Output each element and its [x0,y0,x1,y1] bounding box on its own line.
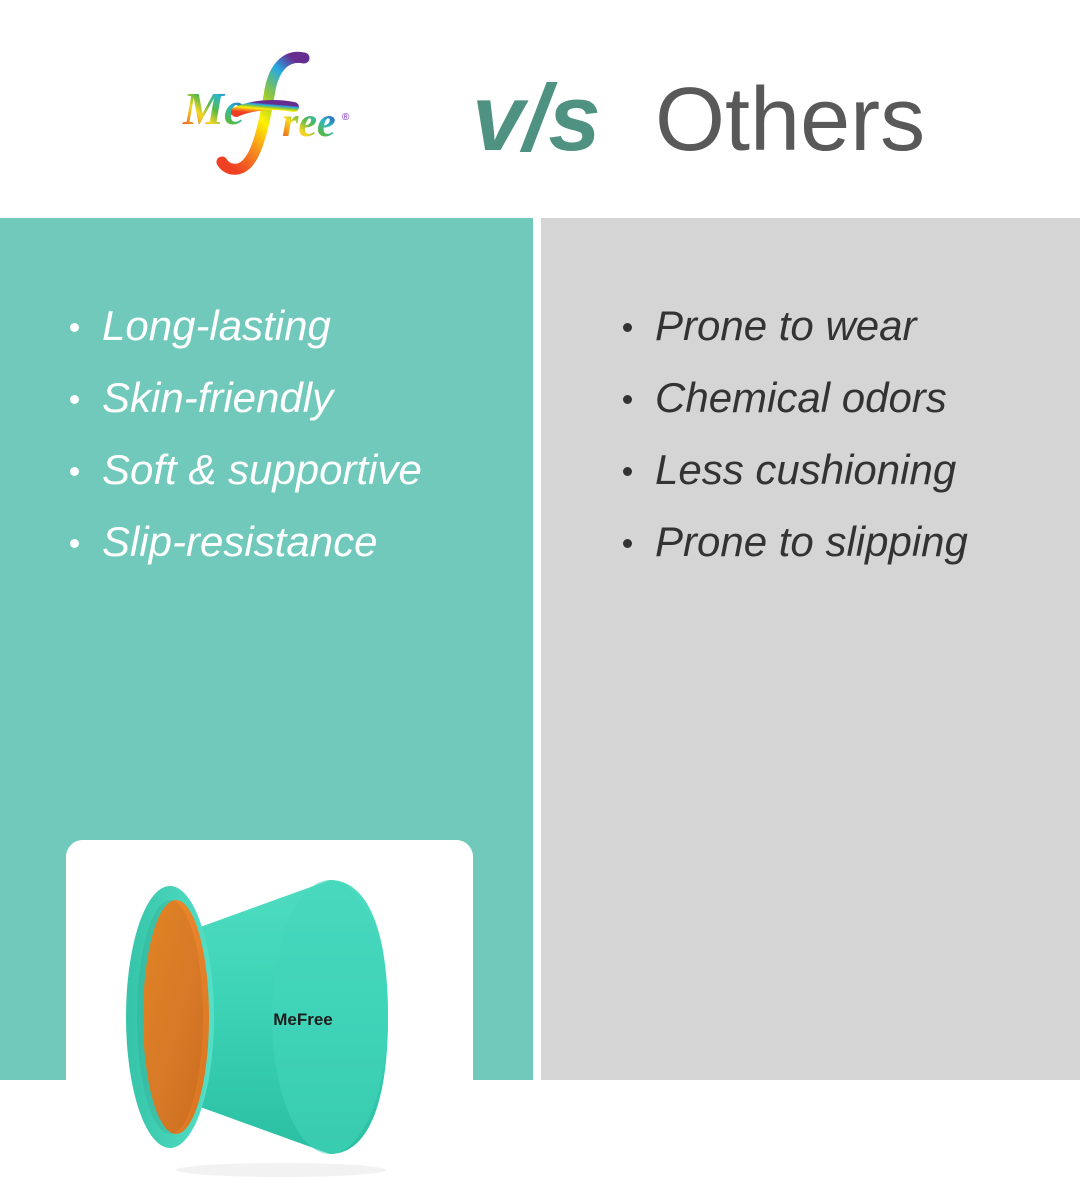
wheel-brand-text: MeFree [273,1010,333,1029]
list-item: Chemical odors [621,362,1080,434]
header-bar: Me ree ® v/s Others [0,0,1080,218]
others-panel: Prone to wear Chemical odors Less cushio… [541,218,1080,1080]
logo-text-ree: ree [282,100,336,146]
competitor-title: Others [655,70,925,170]
list-item: Soft & supportive [68,434,528,506]
list-item: Prone to slipping [621,506,1080,578]
list-item: Slip-resistance [68,506,528,578]
list-item: Prone to wear [621,290,1080,362]
list-item: Less cushioning [621,434,1080,506]
mefree-yoga-wheel-image: MeFree [66,840,473,1194]
list-item: Long-lasting [68,290,528,362]
mefree-logo: Me ree ® [178,50,358,178]
mefree-product-card: MeFree [66,840,473,1194]
list-item: Skin-friendly [68,362,528,434]
versus-label: v/s [472,68,600,168]
logo-trademark-icon: ® [342,112,350,123]
comparison-infographic: Me ree ® v/s Others Long-lasting Skin-fr… [0,0,1080,1080]
mefree-feature-list: Long-lasting Skin-friendly Soft & suppor… [68,290,528,578]
others-feature-list: Prone to wear Chemical odors Less cushio… [621,290,1080,578]
mefree-panel: Long-lasting Skin-friendly Soft & suppor… [0,218,533,1080]
